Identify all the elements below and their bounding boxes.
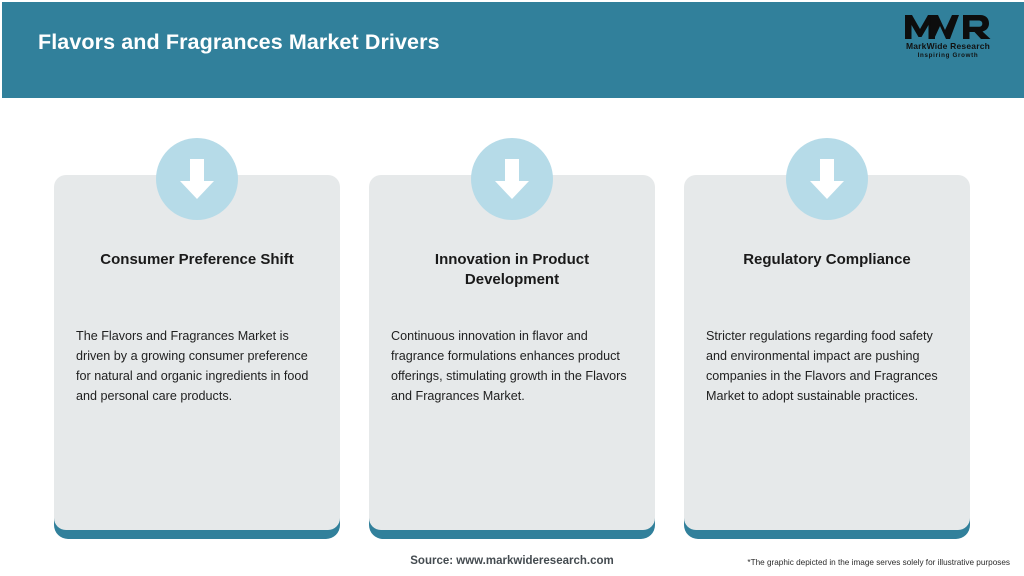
card-body: Stricter regulations regarding food safe… [706,327,952,407]
card-title: Consumer Preference Shift [72,250,322,270]
slide-canvas: Flavors and Fragrances Market Drivers Ma… [0,0,1024,576]
driver-card[interactable]: Innovation in Product Development Contin… [369,175,655,530]
logo-tagline: Inspiring Growth [894,52,1002,59]
driver-card[interactable]: Regulatory Compliance Stricter regulatio… [684,175,970,530]
driver-column: Consumer Preference Shift The Flavors an… [54,175,340,530]
driver-column: Regulatory Compliance Stricter regulatio… [684,175,970,530]
disclaimer-note: *The graphic depicted in the image serve… [747,558,1010,567]
logo: MarkWide Research Inspiring Growth [894,14,1002,66]
logo-company-name: MarkWide Research [894,41,1002,51]
arrow-down-icon [471,138,553,220]
card-body: Continuous innovation in flavor and frag… [391,327,637,407]
card-title: Regulatory Compliance [702,250,952,270]
card-title: Innovation in Product Development [387,250,637,291]
arrow-down-icon [156,138,238,220]
card-body: The Flavors and Fragrances Market is dri… [76,327,322,407]
page-title: Flavors and Fragrances Market Drivers [38,30,440,55]
driver-column: Innovation in Product Development Contin… [369,175,655,530]
driver-card[interactable]: Consumer Preference Shift The Flavors an… [54,175,340,530]
arrow-down-icon [786,138,868,220]
header-band: Flavors and Fragrances Market Drivers Ma… [2,2,1024,98]
logo-mark-icon [894,14,1002,40]
